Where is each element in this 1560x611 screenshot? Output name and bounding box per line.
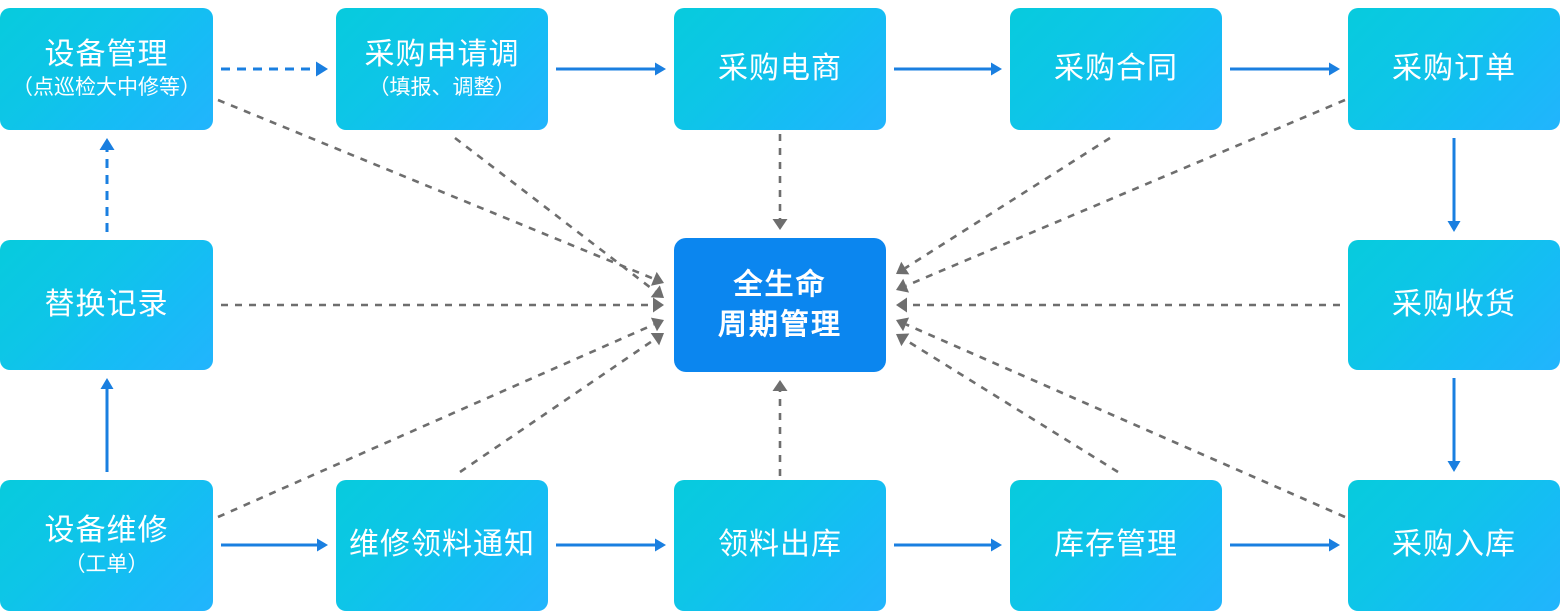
edge-ecommerce-to-center [773,134,788,230]
node-label-secondary: （点巡检大中修等） [12,75,201,101]
node-purchase-inbound[interactable]: 采购入库 [1348,480,1560,611]
node-material-outbound[interactable]: 领料出库 [674,480,886,611]
node-equipment-management[interactable]: 设备管理（点巡检大中修等） [0,8,213,130]
node-purchase-receipt[interactable]: 采购收货 [1348,240,1560,370]
node-repair-material-notice[interactable]: 维修领料通知 [336,480,548,611]
node-label-primary: 维修领料通知 [349,527,535,564]
node-purchase-request[interactable]: 采购申请调（填报、调整） [336,8,548,130]
node-replacement-record[interactable]: 替换记录 [0,240,213,370]
node-label-primary: 设备维修 [45,513,169,550]
edge-notice-to-center [460,333,664,472]
node-purchase-contract[interactable]: 采购合同 [1010,8,1222,130]
edge-contract-to-center [896,138,1110,274]
edge-ecommerce-to-contract [894,63,1002,76]
node-label-primary: 采购合同 [1054,51,1178,88]
center-label-line1: 全生命 [733,265,826,305]
node-label-secondary: （工单） [65,552,149,578]
edge-outbound-to-inventory [894,539,1002,552]
node-label-primary: 采购收货 [1392,287,1516,324]
edge-order-to-receipt [1448,138,1461,232]
edge-repair-to-replacement [101,378,114,472]
node-lifecycle-management-center[interactable]: 全生命周期管理 [674,238,886,372]
edge-repair-to-notice [221,539,328,552]
edge-replacement-to-center [221,298,664,313]
node-label-primary: 领料出库 [718,527,842,564]
node-label-primary: 替换记录 [45,287,169,324]
edge-receipt-to-center [896,298,1340,313]
node-label-primary: 库存管理 [1054,527,1178,564]
node-label-primary: 采购入库 [1392,527,1516,564]
edge-contract-to-order [1230,63,1340,76]
flow-diagram: 设备管理（点巡检大中修等）采购申请调（填报、调整）采购电商采购合同采购订单替换记… [0,0,1560,611]
center-label-line2: 周期管理 [718,305,842,345]
node-label-primary: 采购订单 [1392,51,1516,88]
node-label-secondary: （填报、调整） [369,75,516,101]
edge-outbound-to-center [773,380,788,476]
node-label-primary: 设备管理 [45,37,169,74]
node-purchase-order[interactable]: 采购订单 [1348,8,1560,130]
node-inventory-management[interactable]: 库存管理 [1010,480,1222,611]
node-purchase-ecommerce[interactable]: 采购电商 [674,8,886,130]
edge-replacement-to-equipment [100,138,115,232]
edge-receipt-to-inbound [1448,378,1461,472]
edge-inventory-to-inbound [1230,539,1340,552]
edge-equipment-to-request [221,62,328,77]
node-label-primary: 采购电商 [718,51,842,88]
edge-request-to-center [455,138,664,298]
node-equipment-repair[interactable]: 设备维修（工单） [0,480,213,611]
edge-request-to-ecommerce [556,63,666,76]
edge-notice-to-outbound [556,539,666,552]
node-label-primary: 采购申请调 [365,37,520,74]
